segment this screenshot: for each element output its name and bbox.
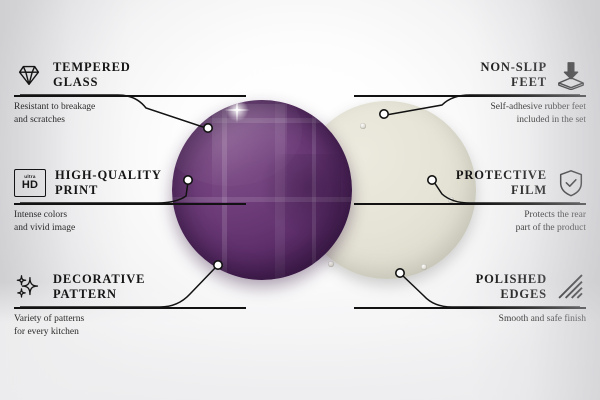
rubber-foot bbox=[328, 261, 334, 267]
feature-header: TEMPERED GLASS bbox=[14, 58, 246, 92]
feature-polished-edges: POLISHED EDGES Smooth and safe finish bbox=[354, 270, 586, 326]
feature-title: POLISHED EDGES bbox=[476, 272, 547, 303]
feature-title: DECORATIVE PATTERN bbox=[53, 272, 145, 303]
feature-divider bbox=[354, 203, 586, 205]
feature-description: Self-adhesive rubber feet included in th… bbox=[354, 101, 586, 127]
plant-reflection bbox=[258, 154, 341, 237]
feature-non-slip-feet: NON-SLIP FEET Self-adhesive rubber feet … bbox=[354, 58, 586, 127]
shield-check-icon bbox=[556, 168, 586, 198]
feature-description: Resistant to breakage and scratches bbox=[14, 101, 246, 127]
diagonal-hatch-icon bbox=[556, 272, 586, 302]
rubber-foot bbox=[316, 197, 322, 203]
feature-divider bbox=[14, 203, 246, 205]
feature-divider bbox=[14, 307, 246, 309]
reflection-mullion bbox=[275, 100, 285, 280]
feature-header: DECORATIVE PATTERN bbox=[14, 270, 246, 304]
feature-divider bbox=[354, 307, 586, 309]
ultra-hd-icon-main-text: HD bbox=[22, 180, 38, 191]
feature-header: POLISHED EDGES bbox=[354, 270, 586, 304]
feature-description: Variety of patterns for every kitchen bbox=[14, 313, 246, 339]
feature-description: Smooth and safe finish bbox=[354, 313, 586, 326]
connector-dot-decorative-pattern bbox=[214, 261, 222, 269]
feature-title: PROTECTIVE FILM bbox=[456, 168, 547, 199]
diamond-icon bbox=[14, 60, 44, 90]
feature-high-quality-print: ultra HD HIGH-QUALITY PRINT Intense colo… bbox=[14, 166, 246, 235]
feature-divider bbox=[14, 95, 246, 97]
feature-description: Intense colors and vivid image bbox=[14, 209, 246, 235]
feature-protective-film: PROTECTIVE FILM Protects the rear part o… bbox=[354, 166, 586, 235]
feature-title: HIGH-QUALITY PRINT bbox=[55, 168, 162, 199]
feature-title: TEMPERED GLASS bbox=[53, 60, 131, 91]
feature-title: NON-SLIP FEET bbox=[480, 60, 547, 91]
press-down-pad-icon bbox=[556, 60, 586, 90]
feature-decorative-pattern: DECORATIVE PATTERN Variety of patterns f… bbox=[14, 270, 246, 339]
feature-header: PROTECTIVE FILM bbox=[354, 166, 586, 200]
feature-header: ultra HD HIGH-QUALITY PRINT bbox=[14, 166, 246, 200]
reflection-mullion bbox=[312, 100, 316, 280]
feature-header: NON-SLIP FEET bbox=[354, 58, 586, 92]
sparkles-icon bbox=[14, 272, 44, 302]
ultra-hd-icon: ultra HD bbox=[14, 169, 46, 197]
feature-description: Protects the rear part of the product bbox=[354, 209, 586, 235]
feature-divider bbox=[354, 95, 586, 97]
infographic-canvas: TEMPERED GLASS Resistant to breakage and… bbox=[0, 0, 600, 400]
feature-tempered-glass: TEMPERED GLASS Resistant to breakage and… bbox=[14, 58, 246, 127]
